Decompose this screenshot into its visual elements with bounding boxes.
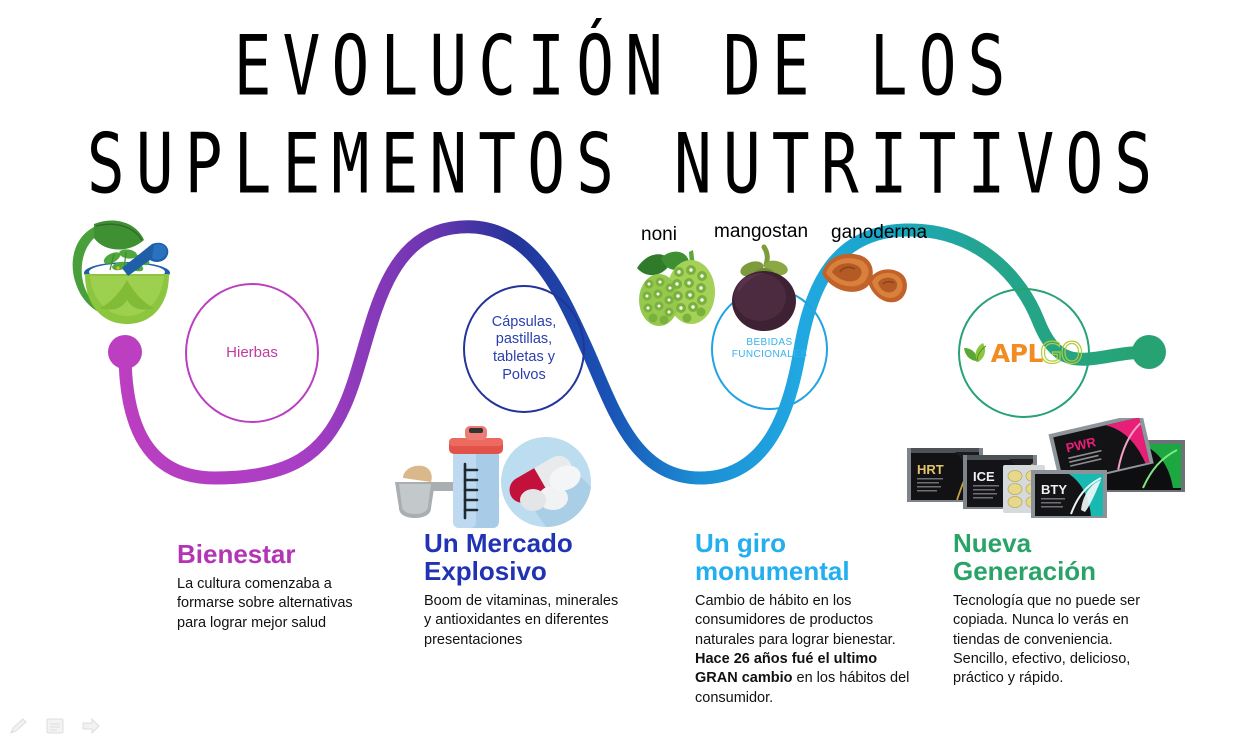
shaker-bottle-icon (449, 426, 503, 528)
node-label-hierbas: Hierbas (226, 344, 278, 362)
node-label-bebidas: BEBIDAS FUNCIONALES (732, 337, 808, 361)
column-body-giro-monumental: Cambio de hábito en los consumidores de … (695, 592, 910, 708)
noni-fruit-icon (631, 246, 723, 334)
aplgo-text-apl: APL (991, 339, 1043, 368)
svg-text:BTY: BTY (1041, 482, 1067, 497)
svg-text:HRT: HRT (917, 462, 944, 477)
pen-icon[interactable] (8, 716, 30, 736)
node-circle-capsulas[interactable]: Cápsulas, pastillas, tabletas y Polvos (463, 285, 585, 413)
fruit-label-noni: noni (641, 224, 677, 246)
supplements-icon-group (381, 420, 591, 532)
column-heading-bienestar: Bienestar (177, 540, 377, 568)
notes-icon[interactable] (44, 716, 66, 736)
slide-canvas: EVOLUCIÓN DE LOS SUPLEMENTOS NUTRITIVOS (0, 0, 1250, 743)
timeline-start-dot (108, 335, 142, 369)
ganoderma-mushroom-icon (820, 248, 912, 310)
column-giro-monumental: Un giro monumental Cambio de hábito en l… (695, 529, 910, 708)
node-label-capsulas: Cápsulas, pastillas, tabletas y Polvos (492, 314, 556, 385)
column-nueva-generacion: Nueva Generación Tecnología que no puede… (953, 529, 1168, 689)
fruit-label-ganoderma: ganoderma (831, 222, 927, 244)
arrow-right-icon[interactable] (80, 716, 102, 736)
mangosteen-fruit-icon (722, 243, 806, 333)
column-body-nueva-generacion: Tecnología que no puede ser copiada. Nun… (953, 592, 1168, 688)
column-mercado-explosivo: Un Mercado Explosivo Boom de vitaminas, … (424, 529, 624, 650)
capsule-pills-icon (501, 437, 591, 527)
mortar-and-pestle-icon (66, 214, 188, 336)
fruit-label-mangostan: mangostan (714, 221, 808, 243)
node-circle-hierbas[interactable]: Hierbas (185, 283, 319, 423)
column-body-mercado-explosivo: Boom de vitaminas, minerales y antioxida… (424, 592, 624, 650)
presenter-toolbar[interactable] (8, 716, 102, 736)
aplgo-logo: APL GO (963, 336, 1081, 370)
column-heading-giro-monumental: Un giro monumental (695, 529, 910, 585)
product-box-bty: BTY (1031, 470, 1107, 518)
column-heading-nueva-generacion: Nueva Generación (953, 529, 1168, 585)
protein-scoop-icon (395, 466, 461, 518)
node-circle-aplgo[interactable]: APL GO (958, 288, 1090, 418)
column-heading-mercado-explosivo: Un Mercado Explosivo (424, 529, 624, 585)
column-body-bienestar: La cultura comenzaba a formarse sobre al… (177, 575, 377, 633)
aplgo-text-go: GO (1040, 336, 1081, 370)
column-bienestar: Bienestar La cultura comenzaba a formars… (177, 540, 377, 633)
leaf-icon (963, 341, 989, 365)
svg-text:ICE: ICE (973, 469, 995, 484)
product-boxes-image: PWR HRT (905, 418, 1189, 523)
timeline-end-dot (1132, 335, 1166, 369)
